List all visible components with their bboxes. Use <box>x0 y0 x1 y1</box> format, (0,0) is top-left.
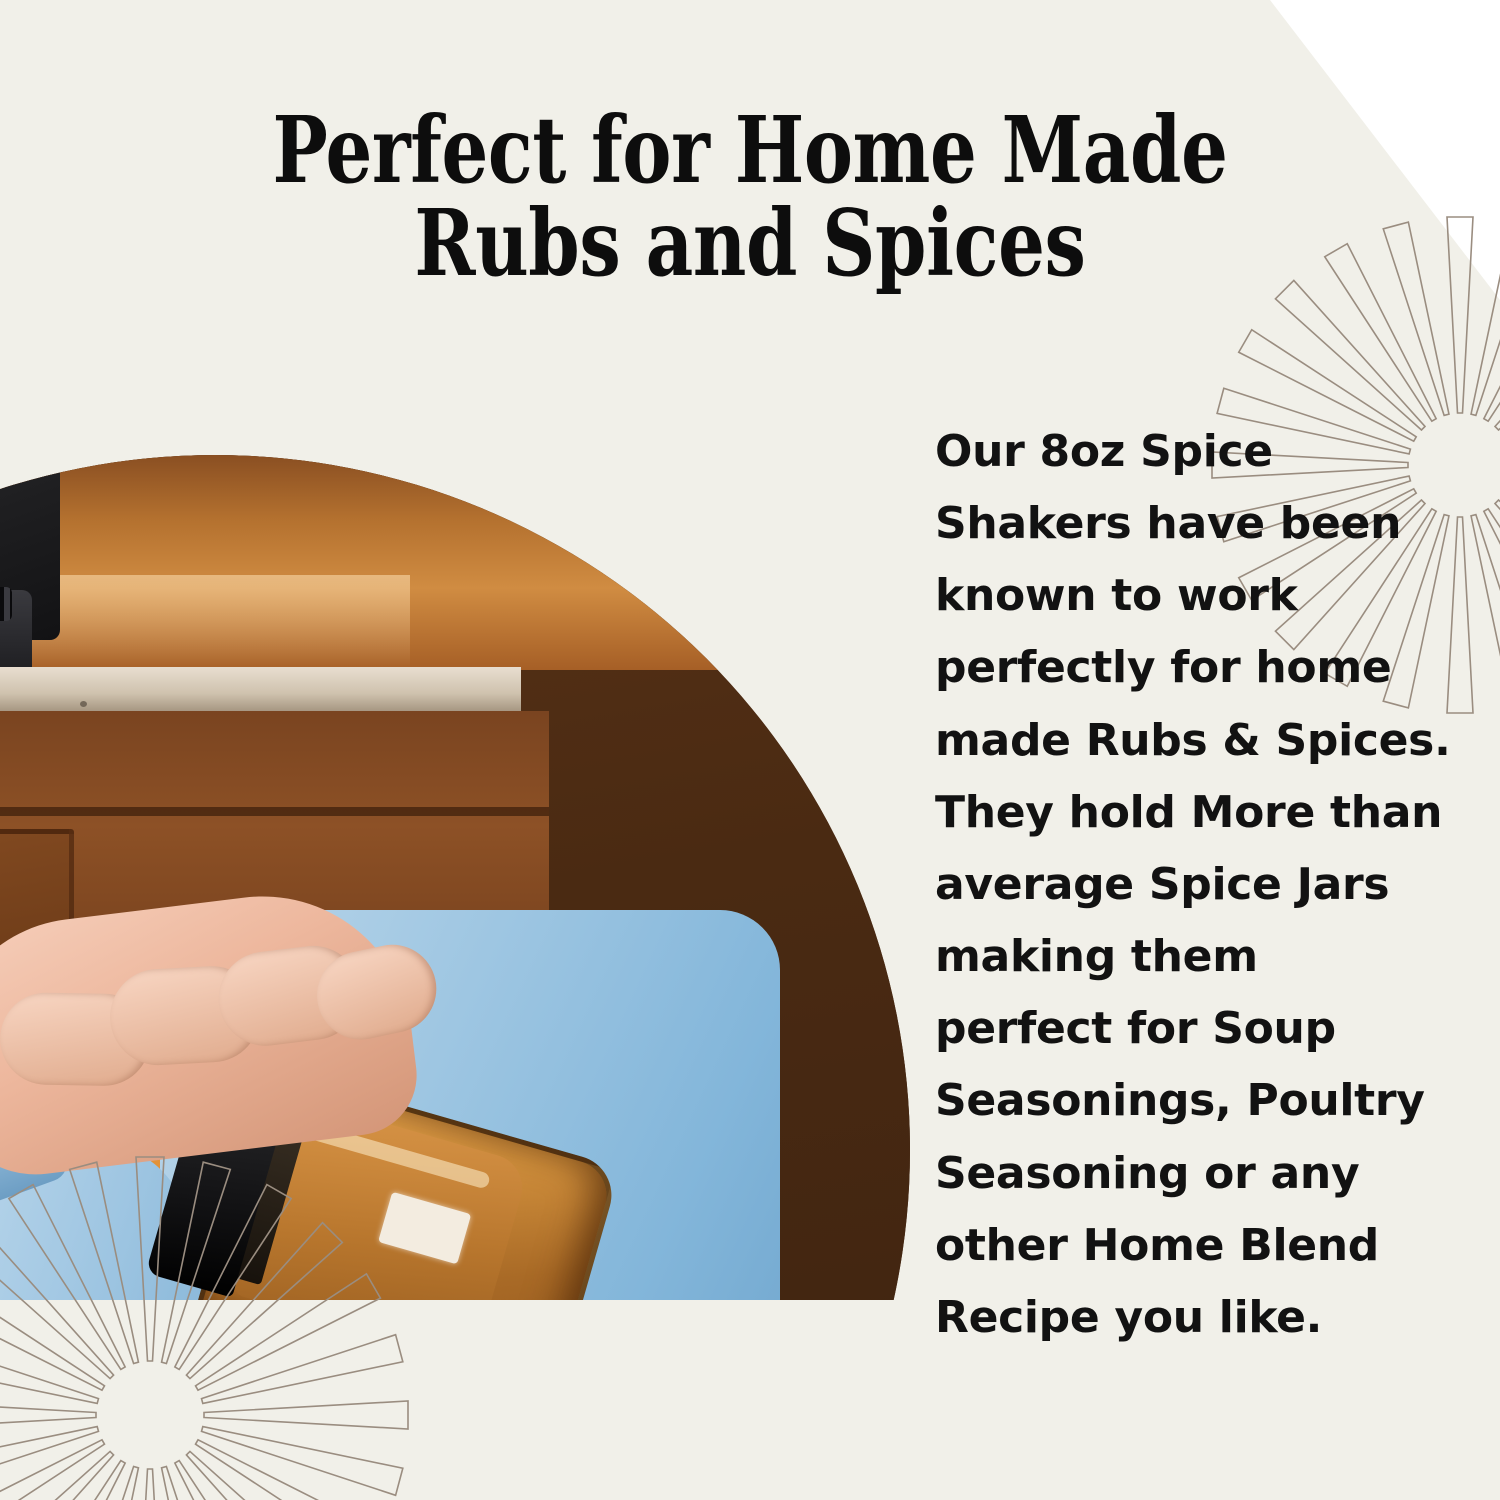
poster-canvas: Perfect for Home Made Rubs and Spices Ou… <box>0 0 1500 1500</box>
granite-fleck <box>80 701 87 707</box>
product-lifestyle-photo <box>0 455 910 1300</box>
product-description: Our 8oz Spice Shakers have been known to… <box>935 416 1455 1354</box>
granite-counter-edge <box>0 667 521 715</box>
headline-line-2: Rubs and Spices <box>150 197 1350 291</box>
countertop-shine <box>0 575 410 670</box>
appliance-grate <box>0 587 12 621</box>
photo-circle-mask <box>0 455 910 1300</box>
page-title: Perfect for Home Made Rubs and Spices <box>150 104 1350 292</box>
cabinet-groove <box>0 807 549 816</box>
headline-line-1: Perfect for Home Made <box>150 104 1350 198</box>
